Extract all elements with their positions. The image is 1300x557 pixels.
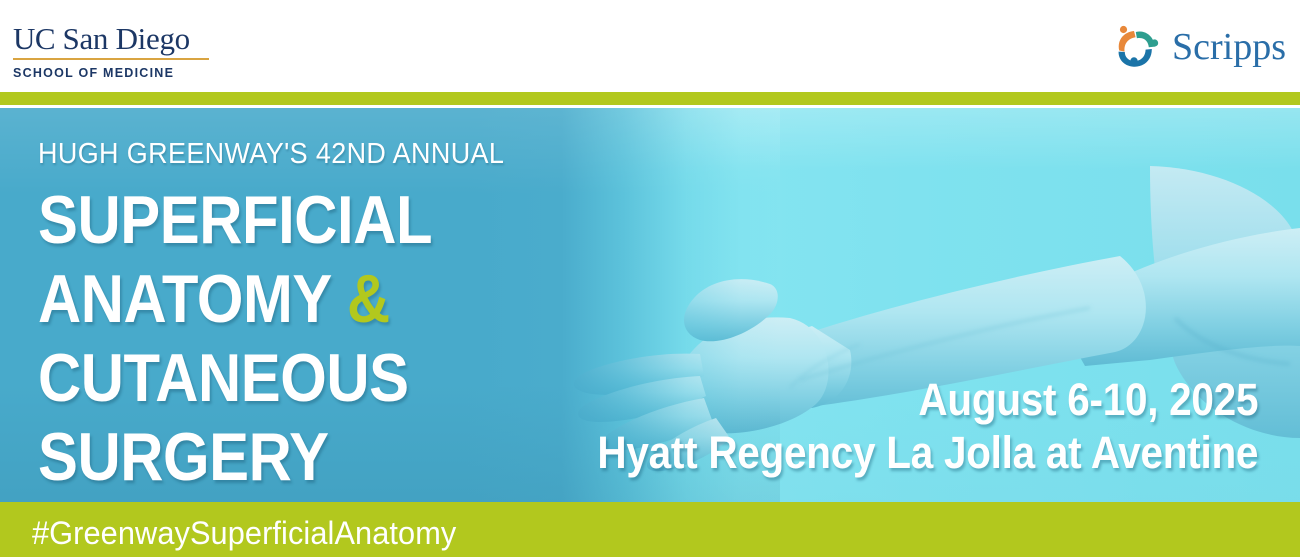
site-header: UC San Diego SCHOOL OF MEDICINE Scripps [0, 0, 1300, 92]
hero-title-line-3: CUTANEOUS [38, 339, 566, 418]
scripps-triad-icon [1110, 20, 1164, 74]
ucsd-school-of-medicine-logo[interactable]: UC San Diego SCHOOL OF MEDICINE [13, 22, 223, 78]
hero-eyebrow: HUGH GREENWAY'S 42ND ANNUAL [38, 138, 596, 170]
hero-banner: HUGH GREENWAY'S 42ND ANNUAL SUPERFICIAL … [0, 108, 1300, 502]
header-green-divider [0, 92, 1300, 105]
hashtag-bar: #GreenwaySuperficialAnatomy [0, 502, 1300, 557]
ucsd-wordmark: UC San Diego [13, 22, 223, 56]
hero-main-title: SUPERFICIAL ANATOMY & CUTANEOUS SURGERY [38, 181, 566, 497]
ucsd-school-subtitle: SCHOOL OF MEDICINE [13, 66, 223, 80]
scripps-wordmark: Scripps [1172, 27, 1286, 67]
hero-title-line-1: SUPERFICIAL [38, 181, 566, 260]
hero-title-line-2: ANATOMY & [38, 260, 566, 339]
hero-title-ampersand: & [347, 261, 390, 337]
ucsd-gold-rule [13, 58, 209, 60]
event-date: August 6-10, 2025 [597, 374, 1258, 426]
ucsd-wordmark-uc: UC [13, 21, 55, 56]
hero-title-line-4: SURGERY [38, 418, 566, 497]
hero-event-details: August 6-10, 2025 Hyatt Regency La Jolla… [524, 374, 1258, 480]
hero-title-line-2-text: ANATOMY [38, 261, 331, 337]
ucsd-wordmark-sandiego: San Diego [63, 21, 190, 56]
scripps-logo[interactable]: Scripps [1110, 18, 1286, 76]
hashtag-text[interactable]: #GreenwaySuperficialAnatomy [32, 515, 456, 551]
event-venue: Hyatt Regency La Jolla at Aventine [597, 426, 1258, 480]
